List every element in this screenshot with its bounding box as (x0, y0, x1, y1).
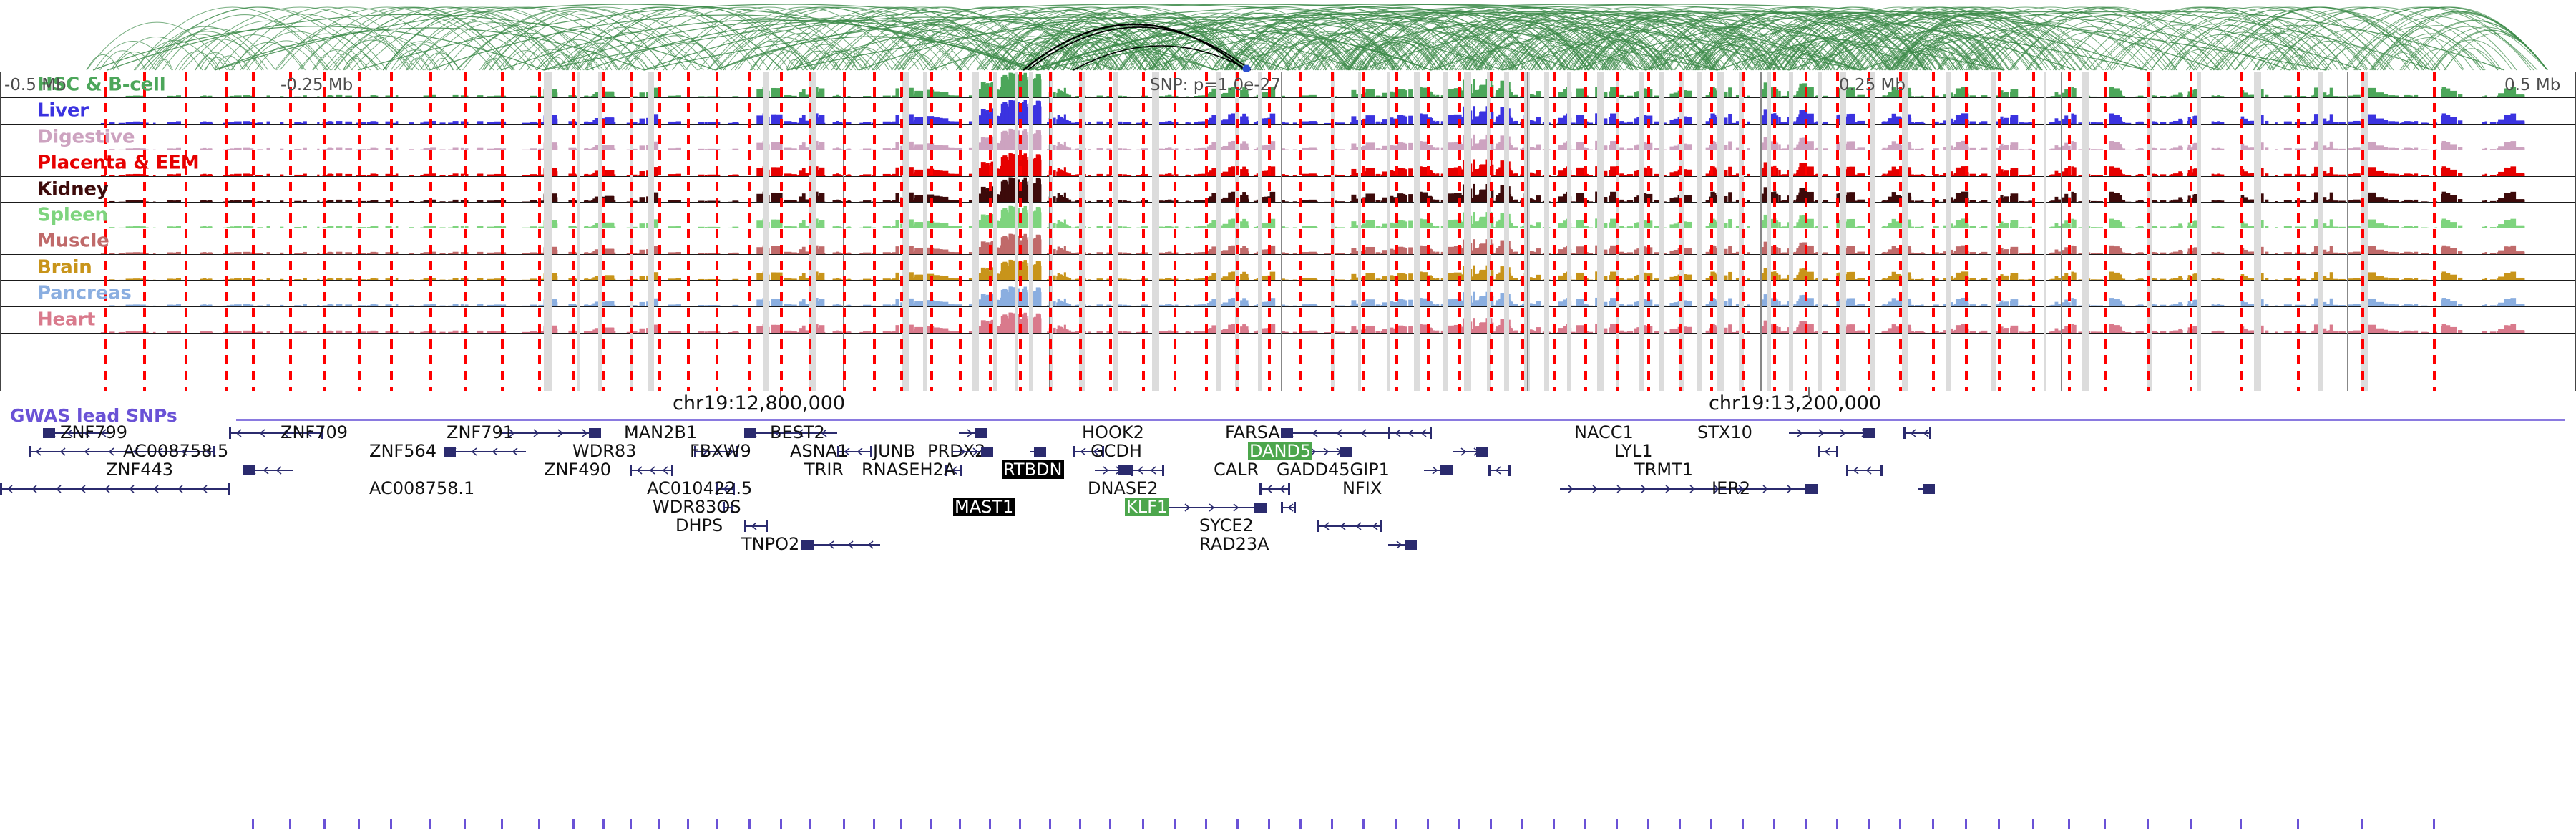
gene-strand-arrow (1267, 484, 1273, 494)
gene-model[interactable] (952, 444, 993, 460)
gene-strand-arrow (250, 465, 257, 475)
gene-label[interactable]: ZNF564 (369, 442, 436, 460)
gene-strand-arrow (1421, 428, 1428, 438)
gene-strand-arrow (1640, 484, 1646, 494)
gene-strand-arrow (1288, 503, 1294, 513)
gwas-lead-snp-tick[interactable] (1142, 819, 1144, 829)
gwas-lead-snp-tick[interactable] (989, 819, 991, 829)
gene-strand-arrow (1372, 521, 1379, 531)
gene-end-cap (1818, 446, 1820, 457)
gene-strand-arrow (1810, 484, 1817, 494)
gene-label[interactable]: MAST1 (953, 498, 1015, 516)
gene-exon-block (589, 428, 601, 438)
gene-strand-arrow (80, 484, 87, 494)
gwas-lead-snp-tick[interactable] (464, 819, 466, 829)
gwas-lead-snp-tick[interactable] (809, 819, 811, 829)
gwas-lead-snp-tick[interactable] (501, 819, 503, 829)
gene-strand-arrow (50, 428, 57, 438)
gene-row: TNPO2RAD23A (0, 537, 2576, 556)
gwas-lead-snp-tick[interactable] (2104, 819, 2106, 829)
gene-strand-arrow (492, 447, 499, 457)
gwas-lead-snp-tick[interactable] (602, 819, 605, 829)
gene-strand-arrow (1786, 484, 1792, 494)
gene-strand-arrow (1689, 484, 1695, 494)
gene-end-cap (1508, 465, 1511, 476)
snp-pvalue-annotation: SNP: p=1.0e-27 (1150, 76, 1281, 94)
gene-row: NFIXIER2AC008758.1AC010422.5DNASE2 (0, 481, 2576, 500)
gene-end-cap (0, 483, 2, 495)
gwas-lead-snp-tick[interactable] (1236, 819, 1239, 829)
gene-strand-arrow (1408, 540, 1415, 550)
gwas-lead-snp-tick[interactable] (1584, 819, 1586, 829)
gene-end-cap (1836, 446, 1838, 457)
gene-model[interactable] (1388, 425, 1431, 441)
gene-label[interactable]: HOOK2 (1082, 423, 1144, 442)
gene-label[interactable]: AC008758.1 (369, 479, 474, 498)
gene-strand-arrow (637, 465, 643, 475)
gene-label[interactable]: KLF1 (1125, 498, 1169, 516)
gene-strand-arrow (1356, 521, 1362, 531)
gene-strand-arrow (177, 484, 184, 494)
gwas-lead-snp-tick[interactable] (1362, 819, 1365, 829)
gene-label[interactable]: AC008758.5 (123, 442, 228, 460)
gwas-lead-snp-tick[interactable] (1490, 819, 1492, 829)
gene-strand-arrow (1866, 465, 1873, 475)
gwas-lead-snp-tick[interactable] (390, 819, 392, 829)
gene-label[interactable]: CALR (1214, 460, 1259, 479)
gene-strand-arrow (972, 447, 978, 457)
gene-strand-arrow (153, 484, 160, 494)
gene-strand-arrow (276, 465, 283, 475)
gwas-lead-snp-tick[interactable] (572, 819, 575, 829)
gwas-lead-snp-tick[interactable] (748, 819, 751, 829)
gene-end-cap (1488, 465, 1491, 476)
gwas-lead-snp-tick[interactable] (2297, 819, 2299, 829)
gwas-lead-snp-tick[interactable] (1205, 819, 1207, 829)
gwas-lead-snp-tick[interactable] (1616, 819, 1618, 829)
gene-end-cap (1259, 483, 1262, 495)
gene-end-cap (1288, 483, 1290, 495)
signal-track-brain: Brain (0, 254, 2576, 281)
gene-model[interactable] (1918, 481, 1935, 497)
gwas-lead-snp-tick[interactable] (289, 819, 291, 829)
gene-strand-arrow (1496, 465, 1502, 475)
coordinate-tick-right (1808, 387, 1810, 397)
gene-strand-arrow (1796, 428, 1802, 438)
gene-strand-arrow (1616, 484, 1622, 494)
gene-strand-arrow (1361, 428, 1367, 438)
gene-model[interactable] (1095, 462, 1131, 478)
gene-model[interactable] (1281, 425, 1388, 441)
gene-strand-arrow (959, 447, 965, 457)
gene-end-cap (630, 465, 632, 476)
gene-strand-arrow (1395, 540, 1402, 550)
gene-strand-arrow (109, 447, 115, 457)
gene-strand-arrow (650, 465, 656, 475)
signal-track-digestive: Digestive (0, 124, 2576, 151)
gwas-lead-snps-label: GWAS lead SNPs (10, 405, 177, 426)
gene-label[interactable]: GCDH (1091, 442, 1142, 460)
gene-model[interactable] (1030, 444, 1046, 460)
gene-label[interactable]: FBXW9 (690, 442, 751, 460)
gene-strand-arrow (966, 428, 972, 438)
gene-label[interactable]: RNASEH2A (862, 460, 955, 479)
gene-strand-arrow (202, 484, 208, 494)
signal-track-kidney: Kidney (0, 176, 2576, 203)
gene-strand-arrow (1038, 447, 1044, 457)
gene-label[interactable]: TRIR (804, 460, 844, 479)
gene-strand-arrow (751, 521, 758, 531)
gene-strand-arrow (663, 465, 669, 475)
gwas-lead-snp-tick[interactable] (1679, 819, 1681, 829)
gene-strand-arrow (104, 484, 111, 494)
gene-label[interactable]: ASNA1 (790, 442, 848, 460)
gwas-lead-snp-tick[interactable] (252, 819, 254, 829)
gene-label[interactable]: RTBDN (1002, 460, 1064, 479)
gene-end-cap (1903, 427, 1906, 439)
gwas-lead-snp-tick[interactable] (323, 819, 326, 829)
track-label-spleen: Spleen (37, 206, 108, 225)
gene-strand-arrow (1102, 465, 1108, 475)
gwas-lead-snp-tick[interactable] (1773, 819, 1775, 829)
signal-track-stack: HSC & B-cellLiverDigestivePlacenta & EEM… (0, 72, 2576, 391)
gene-strand-arrow (532, 428, 539, 438)
gene-strand-arrow (809, 540, 815, 550)
gene-end-cap (960, 465, 962, 476)
gwas-lead-snp-tick[interactable] (1109, 819, 1111, 829)
gene-strand-arrow (868, 540, 874, 550)
gwas-lead-snp-tick[interactable] (658, 819, 660, 829)
gene-exon-block (1340, 447, 1352, 457)
gene-model[interactable] (630, 462, 673, 478)
signal-track-muscle: Muscle (0, 228, 2576, 255)
gene-model[interactable] (1903, 425, 1931, 441)
gene-strand-arrow (472, 447, 478, 457)
signal-track-spleen: Spleen (0, 202, 2576, 229)
gene-strand-arrow (1340, 521, 1347, 531)
gene-strand-arrow (1335, 447, 1342, 457)
gene-strand-arrow (1151, 465, 1157, 475)
gene-end-cap (1162, 465, 1164, 476)
gwas-lead-snp-tick[interactable] (1965, 819, 1967, 829)
gene-model[interactable] (1846, 462, 1882, 478)
track-label-placenta-eem: Placenta & EEM (37, 154, 199, 173)
axis-label-mid-left: -0.25 Mb (280, 76, 353, 94)
gene-strand-arrow (979, 428, 985, 438)
gwas-lead-snp-tick[interactable] (538, 819, 540, 829)
gene-strand-arrow (1138, 465, 1144, 475)
gwas-lead-snp-tick[interactable] (687, 819, 689, 829)
gwas-lead-snp-tick[interactable] (1742, 819, 1744, 829)
gene-strand-arrow (1232, 503, 1239, 513)
gene-label[interactable]: ZNF490 (544, 460, 611, 479)
gwas-lead-snp-tick[interactable] (2433, 819, 2435, 829)
gwas-lead-snp-tick[interactable] (1836, 819, 1838, 829)
coordinate-tick-left (780, 387, 781, 397)
gene-label[interactable]: FARSA (1225, 423, 1280, 442)
genome-browser-view: HSC & B-cellLiverDigestivePlacenta & EEM… (0, 0, 2576, 537)
gene-model[interactable] (444, 444, 526, 460)
gwas-lead-snp-tick[interactable] (900, 819, 902, 829)
gene-strand-arrow (1818, 428, 1824, 438)
gene-row: DHPSSYCE2 (0, 518, 2576, 537)
gene-strand-arrow (1460, 447, 1466, 457)
track-label-kidney: Kidney (37, 180, 109, 198)
gwas-lead-snp-tick[interactable] (1019, 819, 1021, 829)
gene-strand-arrow (1762, 484, 1768, 494)
gwas-lead-snp-tick[interactable] (2147, 819, 2149, 829)
gene-strand-arrow (985, 447, 991, 457)
gene-label[interactable]: MAN2B1 (624, 423, 697, 442)
gene-strand-arrow (260, 428, 266, 438)
gene-strand-arrow (263, 465, 270, 475)
track-label-digestive: Digestive (37, 127, 135, 146)
track-label-muscle: Muscle (37, 232, 109, 251)
gene-strand-arrow (1911, 428, 1917, 438)
gene-label[interactable]: WDR83 (572, 442, 636, 460)
track-label-liver: Liver (37, 102, 89, 120)
gene-label[interactable]: ZNF709 (280, 423, 348, 442)
gene-model[interactable] (1388, 537, 1417, 553)
gwas-lead-snp-tick[interactable] (1998, 819, 2000, 829)
gene-strand-arrow (557, 428, 563, 438)
gene-strand-arrow (848, 540, 854, 550)
gene-end-cap (766, 520, 768, 532)
gene-strand-arrow (1408, 428, 1415, 438)
gene-model[interactable] (243, 462, 293, 478)
gene-strand-arrow (1431, 465, 1438, 475)
gene-end-cap (744, 520, 746, 532)
gwas-lead-snp-tick[interactable] (1553, 819, 1555, 829)
gene-end-cap (870, 446, 872, 457)
gene-model[interactable] (744, 518, 767, 534)
gene-end-cap (1281, 502, 1283, 513)
gene-end-cap (1846, 465, 1848, 476)
gene-model[interactable] (1259, 481, 1289, 497)
gene-model[interactable] (959, 425, 987, 441)
gene-strand-arrow (1324, 521, 1330, 531)
chromatin-interaction-arcs (0, 0, 2576, 72)
gwas-lead-snp-tick[interactable] (1710, 819, 1712, 829)
gene-strand-arrow (1257, 503, 1263, 513)
gwas-lead-snp-tick[interactable] (1427, 819, 1429, 829)
gene-label[interactable]: NACC1 (1574, 423, 1634, 442)
signal-track-hsc-b-cell: HSC & B-cell (0, 72, 2576, 99)
gene-label[interactable]: BEST2 (770, 423, 825, 442)
gene-strand-arrow (1395, 428, 1402, 438)
gene-strand-arrow (36, 447, 42, 457)
gene-annotation-track: ZNF799ZNF709ZNF791MAN2B1BEST2HOOK2FARSAN… (0, 425, 2576, 537)
gene-end-cap (229, 427, 231, 439)
gwas-lead-snp-tick[interactable] (1521, 819, 1523, 829)
track-label-pancreas: Pancreas (37, 284, 132, 303)
gene-label[interactable]: JUNB (873, 442, 915, 460)
gwas-lead-snp-tick[interactable] (930, 819, 932, 829)
gwas-lead-snp-tick[interactable] (716, 819, 718, 829)
gwas-lead-snp-tick[interactable] (1174, 819, 1176, 829)
gene-strand-arrow (31, 484, 38, 494)
gene-strand-arrow (1925, 484, 1931, 494)
gene-end-cap (228, 483, 230, 495)
gene-row: WDR83OSMAST1KLF1 (0, 500, 2576, 518)
axis-label-mid-right: 0.25 Mb (1839, 76, 1906, 94)
gene-strand-arrow (1312, 428, 1319, 438)
gene-strand-arrow (1860, 428, 1867, 438)
gwas-lead-snp-tick[interactable] (2240, 819, 2242, 829)
gene-intron-line (1281, 432, 1388, 434)
gwas-lead-snp-tick[interactable] (1899, 819, 1901, 829)
gene-label[interactable]: IER2 (1712, 479, 1750, 498)
gwas-lead-snp-tick[interactable] (1868, 819, 1870, 829)
gene-label[interactable]: RAD23A (1199, 535, 1269, 553)
gene-intron-line (1846, 470, 1882, 471)
axis-label-right: 0.5 Mb (2504, 76, 2560, 94)
gene-strand-arrow (1591, 484, 1598, 494)
gwas-lead-snp-tick[interactable] (1268, 819, 1270, 829)
gene-model[interactable] (1424, 462, 1453, 478)
gene-strand-arrow (1337, 428, 1343, 438)
gene-strand-arrow (1567, 484, 1574, 494)
gwas-lead-snp-tick[interactable] (843, 819, 845, 829)
gene-strand-arrow (451, 447, 457, 457)
gene-end-cap (1380, 520, 1382, 532)
gene-end-cap (1131, 465, 1133, 476)
gene-strand-arrow (129, 484, 135, 494)
gwas-lead-snp-tick[interactable] (2361, 819, 2363, 829)
gene-strand-arrow (512, 447, 519, 457)
gene-label[interactable]: NFIX (1342, 479, 1382, 498)
gene-strand-arrow (7, 484, 14, 494)
gene-strand-arrow (581, 428, 587, 438)
axis-label-left: -0.5 Mb (4, 76, 67, 94)
gwas-lead-snp-tick[interactable] (1331, 819, 1333, 829)
gwas-lead-snp-tick[interactable] (1079, 819, 1081, 829)
gene-strand-arrow (1208, 503, 1214, 513)
gwas-lead-snp-tick[interactable] (1299, 819, 1302, 829)
gene-strand-arrow (1853, 465, 1860, 475)
gene-strand-arrow (1444, 465, 1450, 475)
gwas-lead-snp-tick[interactable] (1647, 819, 1649, 829)
gene-strand-arrow (1115, 465, 1121, 475)
signal-track-pancreas: Pancreas (0, 280, 2576, 307)
gene-strand-arrow (1184, 503, 1190, 513)
gwas-lead-snp-tick[interactable] (630, 819, 632, 829)
gene-label[interactable]: TRMT1 (1634, 460, 1693, 479)
gene-model[interactable] (1560, 481, 1818, 497)
gene-label[interactable]: DAND5 (1248, 442, 1312, 460)
gene-end-cap (1388, 427, 1390, 439)
gwas-lead-snps-track (0, 405, 2576, 424)
gwas-lead-snp-tick[interactable] (959, 819, 961, 829)
gene-model[interactable] (1281, 500, 1295, 515)
gene-label[interactable]: ZNF791 (447, 423, 514, 442)
gene-strand-arrow (60, 447, 67, 457)
signal-track-placenta-eem: Placenta & EEM (0, 150, 2576, 177)
gene-label[interactable]: SYCE2 (1199, 516, 1254, 535)
gene-strand-arrow (857, 447, 864, 457)
track-label-brain: Brain (37, 258, 92, 276)
gwas-lead-snp-tick[interactable] (1049, 819, 1051, 829)
gene-strand-arrow (829, 540, 835, 550)
gene-strand-arrow (1664, 484, 1671, 494)
gene-model[interactable] (1488, 462, 1510, 478)
gene-end-cap (1880, 465, 1883, 476)
gene-strand-arrow (1322, 447, 1329, 457)
gene-label[interactable]: WDR83OS (653, 498, 741, 516)
gene-label[interactable]: TNPO2 (741, 535, 799, 553)
gene-strand-arrow (1288, 428, 1294, 438)
gene-label[interactable]: LYL1 (1614, 442, 1652, 460)
gwas-lead-snp-tick[interactable] (429, 819, 431, 829)
gene-model[interactable] (0, 481, 229, 497)
gene-intron-line (1131, 470, 1163, 471)
gwas-lead-snp-tick[interactable] (1805, 819, 1807, 829)
gene-end-cap (671, 465, 673, 476)
gene-model[interactable] (1453, 444, 1488, 460)
gene-strand-arrow (1839, 428, 1845, 438)
signal-track-heart: Heart (0, 306, 2576, 334)
gene-model[interactable] (1789, 425, 1875, 441)
gene-end-cap (1430, 427, 1432, 439)
gene-strand-arrow (1825, 447, 1831, 457)
gene-label[interactable]: DHPS (675, 516, 723, 535)
gwas-lead-snp-tick[interactable] (2032, 819, 2034, 829)
gwas-lead-snp-tick[interactable] (873, 819, 875, 829)
gene-model[interactable] (501, 425, 601, 441)
gene-strand-arrow (56, 484, 62, 494)
gene-strand-arrow (1473, 447, 1479, 457)
gwas-lead-snp-tick[interactable] (2190, 819, 2192, 829)
gene-strand-arrow (1923, 428, 1930, 438)
gwas-lead-snp-tick[interactable] (1395, 819, 1397, 829)
track-label-heart: Heart (37, 310, 95, 329)
gene-model[interactable] (801, 537, 880, 553)
gene-strand-arrow (84, 447, 91, 457)
gene-label[interactable]: GADD45GIP1 (1277, 460, 1390, 479)
gene-label[interactable]: ZNF443 (106, 460, 173, 479)
gene-strand-arrow (236, 428, 243, 438)
gene-model[interactable] (1317, 518, 1381, 534)
gwas-lead-snp-tick[interactable] (1932, 819, 1934, 829)
gene-label[interactable]: AC010422.5 (647, 479, 752, 498)
gene-strand-arrow (751, 428, 758, 438)
gene-model[interactable] (1131, 462, 1163, 478)
signal-track-liver: Liver (0, 97, 2576, 125)
gene-end-cap (1317, 520, 1319, 532)
gwas-lead-snp-tick[interactable] (2068, 819, 2070, 829)
gwas-lead-snp-tick[interactable] (358, 819, 360, 829)
gene-end-cap (29, 446, 31, 457)
gene-label[interactable]: STX10 (1697, 423, 1752, 442)
gene-strand-arrow (1279, 484, 1286, 494)
gene-end-cap (1073, 446, 1075, 457)
gene-model[interactable] (1818, 444, 1838, 460)
gene-label[interactable]: DNASE2 (1088, 479, 1158, 498)
gwas-lead-snp-tick[interactable] (780, 819, 782, 829)
gene-strand-arrow (1080, 447, 1087, 457)
gwas-lead-snp-tick[interactable] (1458, 819, 1460, 829)
